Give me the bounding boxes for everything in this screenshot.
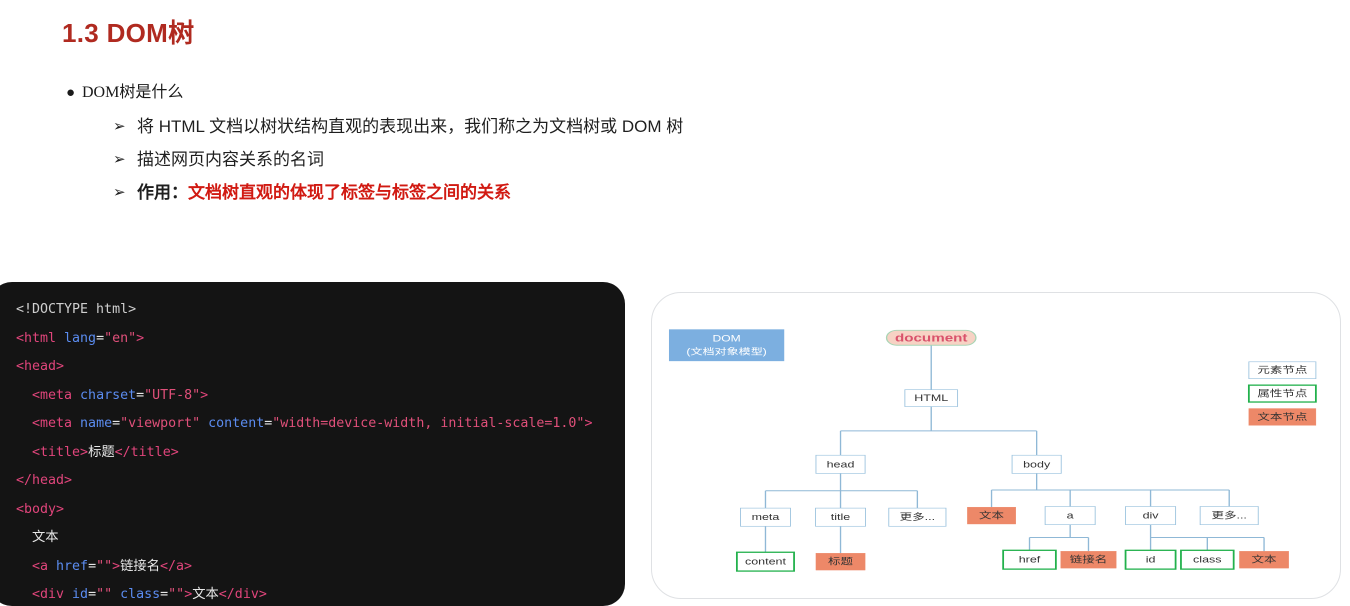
code-token: = (136, 388, 144, 403)
code-token: "" (96, 559, 112, 574)
code-token: 文本 (32, 530, 59, 545)
code-line: 文本 (0, 524, 625, 553)
code-token: "UTF-8" (144, 388, 200, 403)
code-token: > (136, 331, 144, 346)
tree-node-label: 链接名 (1070, 554, 1108, 566)
code-block: <!DOCTYPE html><html lang="en"><head> <m… (0, 282, 625, 606)
tree-node-content: content (737, 552, 794, 571)
tree-node-href: href (1003, 550, 1056, 569)
code-line: <body> (0, 496, 625, 525)
code-line: <title>标题</title> (0, 439, 625, 468)
dom-tree-diagram: DOM(文档对象模型)元素节点属性节点文本节点documentHTMLheadb… (651, 292, 1341, 599)
code-token: <a (32, 559, 48, 574)
tree-node-label: HTML (914, 394, 948, 404)
code-line: <a href="">链接名</a> (0, 553, 625, 582)
code-token: class (112, 587, 160, 602)
tree-node-label: document (895, 331, 968, 343)
legend-item-element: 元素节点 (1249, 362, 1316, 379)
arrow-right-icon: ➢ (113, 182, 137, 204)
code-line: <!DOCTYPE html> (0, 296, 625, 325)
code-token: </title> (115, 445, 179, 460)
code-line: <head> (0, 353, 625, 382)
code-token: 文本 (192, 587, 219, 602)
list-item: ➢ 将 HTML 文档以树状结构直观的表现出来，我们称之为文档树或 DOM 树 (113, 116, 683, 138)
code-token (16, 388, 32, 403)
code-token: "viewport" (120, 416, 200, 431)
tree-node-div: div (1126, 507, 1176, 525)
slide-page: 1.3 DOM树 ● DOM树是什么 ➢ 将 HTML 文档以树状结构直观的表现… (0, 0, 1350, 606)
code-token: href (48, 559, 88, 574)
bullet-main: ● DOM树是什么 (66, 83, 683, 103)
code-token (16, 559, 32, 574)
code-token (16, 416, 32, 431)
code-token: id (64, 587, 88, 602)
code-token: charset (72, 388, 136, 403)
code-token: <meta (32, 388, 72, 403)
sub-bullet-wrap: 作用：文档树直观的体现了标签与标签之间的关系 (137, 182, 511, 204)
legend-item-attribute: 属性节点 (1249, 385, 1316, 402)
code-token: <div (32, 587, 64, 602)
tree-node-more2: 更多... (1200, 507, 1258, 525)
sub-bullet-label: 描述网页内容关系的名词 (137, 149, 324, 171)
tree-node-biaoti: 标题 (816, 553, 865, 570)
code-token (16, 530, 32, 545)
tree-node-id: id (1126, 550, 1176, 569)
tree-node-label: 文本 (979, 509, 1004, 521)
code-token: = (112, 416, 120, 431)
dom-tree-svg: DOM(文档对象模型)元素节点属性节点文本节点documentHTMLheadb… (652, 293, 1340, 598)
list-item: ➢ 作用：文档树直观的体现了标签与标签之间的关系 (113, 182, 683, 204)
legend-label: 文本节点 (1257, 411, 1307, 423)
sub-bullet-highlight: 文档树直观的体现了标签与标签之间的关系 (188, 183, 511, 202)
legend-item-text: 文本节点 (1249, 409, 1316, 426)
code-token: <body> (16, 502, 64, 517)
tree-node-label: head (827, 460, 855, 470)
code-line: </head> (0, 467, 625, 496)
tree-node-meta: meta (740, 508, 790, 526)
code-line: <div id="" class="">文本</div> (0, 581, 625, 606)
code-token: content (200, 416, 264, 431)
tree-node-label: id (1146, 555, 1156, 565)
tree-node-body: body (1012, 455, 1061, 473)
code-token: "" (168, 587, 184, 602)
sub-bullet-prefix: 作用： (137, 183, 188, 202)
code-token: "width=device-width, initial-scale=1.0" (272, 416, 584, 431)
tree-node-head: head (816, 455, 865, 473)
sub-bullet-list: ➢ 将 HTML 文档以树状结构直观的表现出来，我们称之为文档树或 DOM 树 … (113, 116, 683, 204)
code-token (16, 587, 32, 602)
code-token: <title> (32, 445, 88, 460)
code-token: <html (16, 331, 56, 346)
tree-node-label: 标题 (828, 556, 853, 568)
tree-node-document: document (887, 330, 976, 345)
code-line: <meta name="viewport" content="width=dev… (0, 410, 625, 439)
code-token: 链接名 (120, 559, 160, 574)
page-title: 1.3 DOM树 (62, 13, 194, 50)
tree-node-label: href (1019, 555, 1042, 565)
dom-caption-line1: DOM (713, 334, 741, 344)
code-token: > (112, 559, 120, 574)
code-token: > (184, 587, 192, 602)
code-line: <html lang="en"> (0, 325, 625, 354)
code-token: "en" (104, 331, 136, 346)
code-token: > (584, 416, 592, 431)
code-token: > (200, 388, 208, 403)
code-token: </head> (16, 473, 72, 488)
code-token: <head> (16, 359, 64, 374)
code-token: name (72, 416, 112, 431)
arrow-right-icon: ➢ (113, 116, 137, 138)
dom-caption-line2: (文档对象模型) (686, 346, 766, 357)
tree-node-label: 更多... (900, 511, 935, 523)
tree-node-label: a (1067, 511, 1075, 521)
code-token: 标题 (88, 445, 115, 460)
code-token: "" (96, 587, 112, 602)
tree-node-text2: 文本 (1239, 551, 1288, 568)
tree-node-title: title (816, 508, 866, 526)
tree-node-label: class (1193, 555, 1222, 565)
sub-bullet-label: 将 HTML 文档以树状结构直观的表现出来，我们称之为文档树或 DOM 树 (137, 116, 683, 138)
tree-node-a: a (1045, 507, 1095, 525)
arrow-right-icon: ➢ (113, 149, 137, 171)
tree-node-label: content (745, 557, 786, 567)
legend-label: 元素节点 (1257, 365, 1307, 376)
tree-node-label: div (1143, 511, 1160, 521)
code-token: </div> (219, 587, 267, 602)
tree-node-more1: 更多... (889, 508, 946, 526)
bullet-list: ● DOM树是什么 ➢ 将 HTML 文档以树状结构直观的表现出来，我们称之为文… (66, 83, 683, 215)
code-token: lang (56, 331, 96, 346)
code-token: = (160, 587, 168, 602)
tree-node-lianjieming: 链接名 (1061, 551, 1116, 568)
code-token: = (96, 331, 104, 346)
tree-node-label: 文本 (1252, 554, 1277, 566)
tree-node-label: 更多... (1211, 509, 1246, 521)
tree-node-label: meta (752, 513, 781, 523)
code-line: <meta charset="UTF-8"> (0, 382, 625, 411)
list-item: ➢ 描述网页内容关系的名词 (113, 149, 683, 171)
tree-node-label: title (831, 513, 850, 523)
tree-node-class: class (1181, 550, 1234, 569)
tree-node-html: HTML (905, 390, 958, 407)
legend-label: 属性节点 (1257, 387, 1307, 399)
tree-node-text1: 文本 (967, 507, 1015, 524)
code-token: <meta (32, 416, 72, 431)
dom-caption-box: DOM(文档对象模型) (669, 329, 784, 361)
tree-node-label: body (1023, 460, 1051, 470)
code-token: = (88, 587, 96, 602)
bullet-dot-icon: ● (66, 83, 82, 103)
code-token: </a> (160, 559, 192, 574)
bullet-main-label: DOM树是什么 (82, 83, 183, 103)
code-token (16, 445, 32, 460)
code-token: = (88, 559, 96, 574)
code-token: <!DOCTYPE html> (16, 302, 136, 317)
